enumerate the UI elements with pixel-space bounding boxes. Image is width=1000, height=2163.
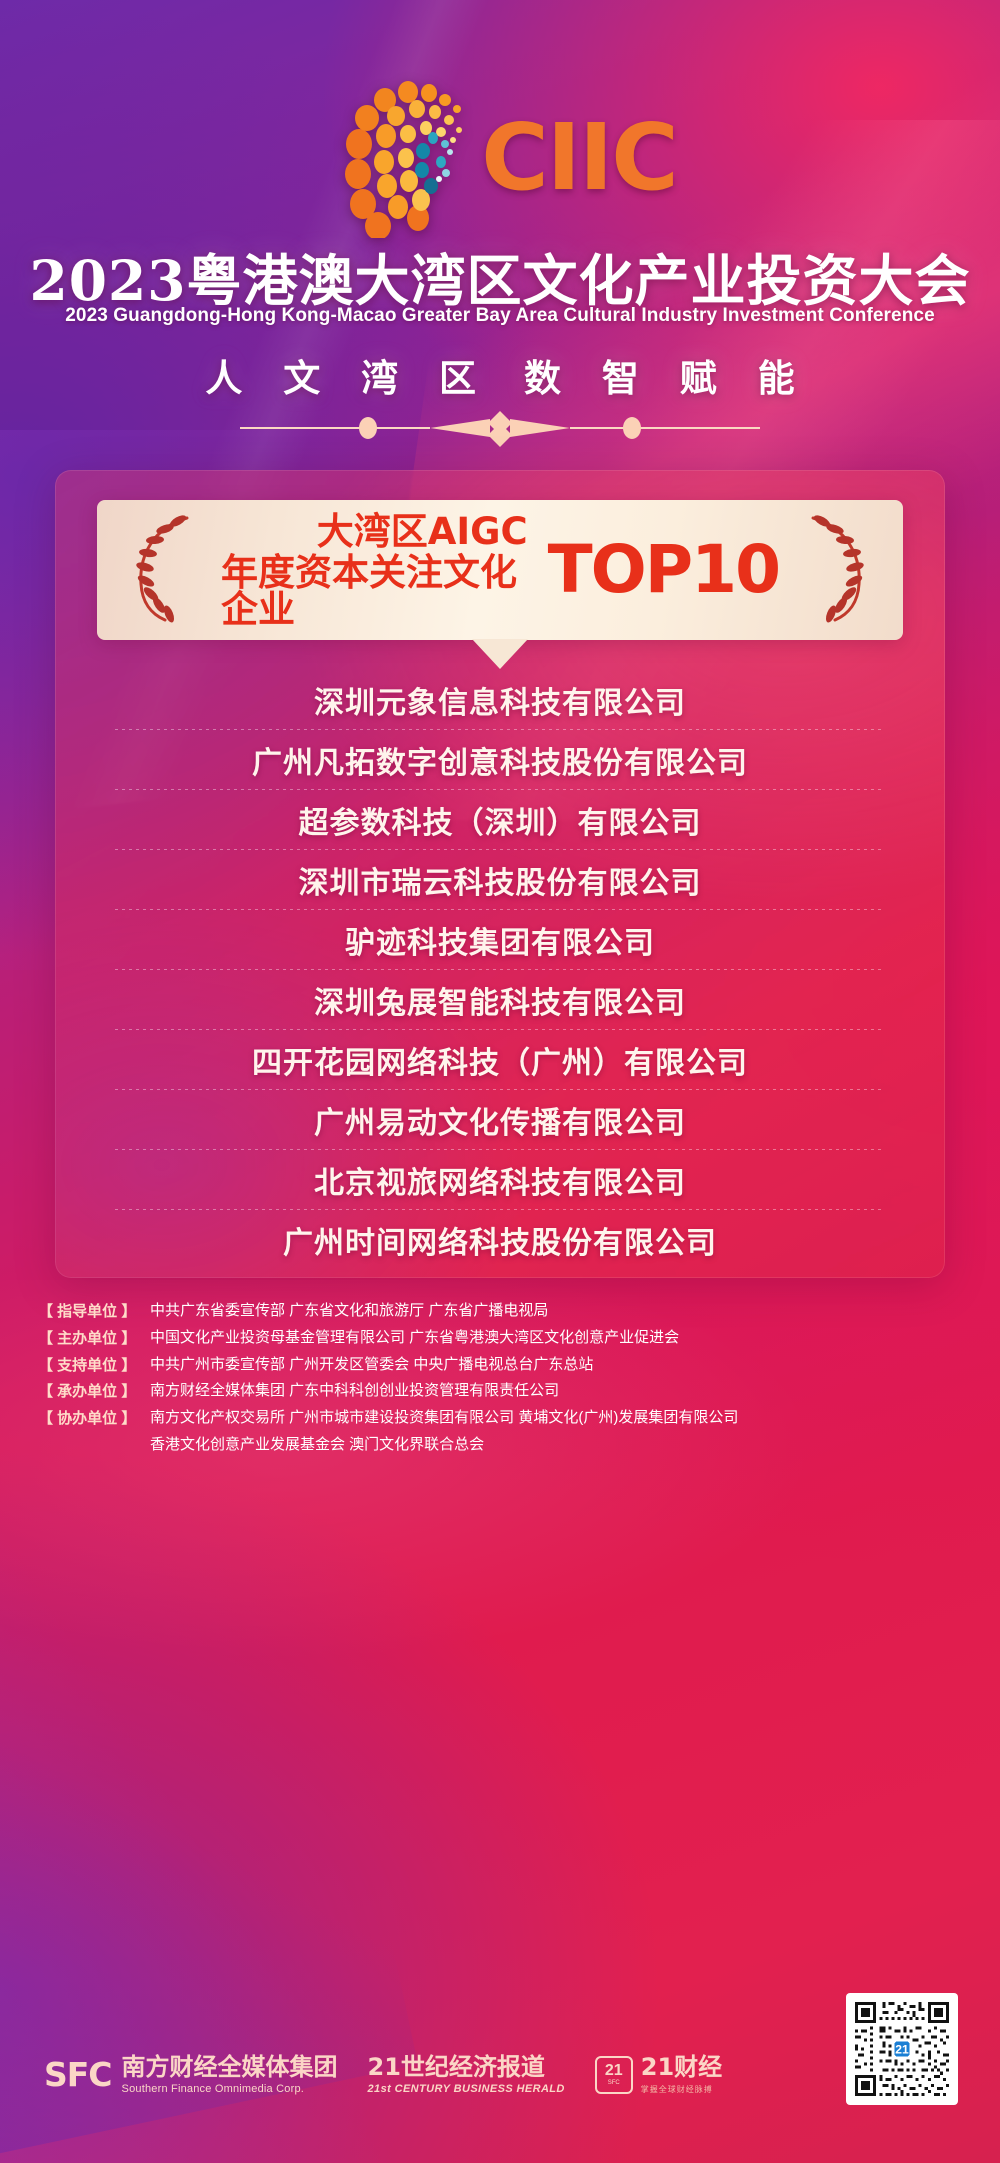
sponsor-row: 【 支持单位 】 中共广州市委宣传部 广州开发区管委会 中央广播电视总台广东总站 [38,1354,798,1376]
herald-name-en: 21st CENTURY BUSINESS HERALD [368,2083,565,2095]
top10-ribbon: 大湾区AIGC 年度资本关注文化企业 TOP10 [97,500,903,640]
list-item: 四开花园网络科技（广州）有限公司 [55,1030,945,1090]
top10-card: 大湾区AIGC 年度资本关注文化企业 TOP10 [55,470,945,1278]
sponsor-label: 【 指导单位 】 [38,1300,150,1321]
company-name: 广州易动文化传播有限公司 [314,1098,686,1142]
list-item: 深圳市瑞云科技股份有限公司 [55,850,945,910]
company-name: 超参数科技（深圳）有限公司 [299,798,702,842]
sponsor-value: 中共广东省委宣传部 广东省文化和旅游厅 广东省广播电视局 [150,1300,548,1322]
caijing-badge-sub: SFC [608,2080,620,2086]
sponsor-row: 【 指导单位 】 中共广东省委宣传部 广东省文化和旅游厅 广东省广播电视局 [38,1300,798,1322]
slogan: 人 文 湾 区数 智 赋 能 [0,348,1000,402]
footer-logos: SFC 南方财经全媒体集团 Southern Finance Omnimedia… [44,2055,722,2095]
herald-name-cn: 21世纪经济报道 [368,2055,565,2080]
page-title-cn: 2023粤港澳大湾区文化产业投资大会 [0,236,1000,316]
ribbon-line-2: 年度资本关注文化企业 [221,554,528,628]
list-item: 广州时间网络科技股份有限公司 [55,1210,945,1270]
sponsor-label: 【 协办单位 】 [38,1407,150,1428]
ribbon-line-1: 大湾区AIGC [317,513,528,550]
sfc-name-cn: 南方财经全媒体集团 [122,2055,338,2080]
company-name: 深圳元象信息科技有限公司 [314,678,686,722]
sponsor-value: 南方财经全媒体集团 广东中科科创创业投资管理有限责任公司 [150,1380,559,1402]
sponsor-label: 【 主办单位 】 [38,1327,150,1348]
ornamental-divider [240,405,760,451]
list-item: 深圳兔展智能科技有限公司 [55,970,945,1030]
ciic-dot-spiral-logo-icon [323,78,483,238]
svg-text:21: 21 [895,2043,909,2057]
list-item: 驴迹科技集团有限公司 [55,910,945,970]
laurel-right-icon [795,512,869,629]
company-name: 驴迹科技集团有限公司 [345,918,655,962]
sponsor-row: 【 协办单位 】 南方文化产权交易所 广州市城市建设投资集团有限公司 黄埔文化(… [38,1407,798,1429]
caijing-badge-icon: 21 SFC [595,2056,633,2094]
laurel-left-icon [131,512,205,629]
sfc-wordmark: SFC [44,2055,112,2094]
list-item: 深圳元象信息科技有限公司 [55,670,945,730]
top10-label: TOP10 [548,537,779,603]
ribbon-notch [472,639,528,669]
company-name: 深圳兔展智能科技有限公司 [314,978,686,1022]
caijing-badge-number: 21 [605,2063,623,2079]
company-name: 广州凡拓数字创意科技股份有限公司 [252,738,748,782]
sponsor-extra-line: 香港文化创意产业发展基金会 澳门文化界联合总会 [150,1434,798,1456]
sponsor-label: 【 承办单位 】 [38,1380,150,1401]
list-item: 超参数科技（深圳）有限公司 [55,790,945,850]
sfc-name-en: Southern Finance Omnimedia Corp. [122,2083,338,2095]
list-item: 广州易动文化传播有限公司 [55,1090,945,1150]
sponsor-value: 中国文化产业投资母基金管理有限公司 广东省粤港澳大湾区文化创意产业促进会 [150,1327,679,1349]
caijing-tagline: 掌握全球财经脉搏 [641,2084,722,2095]
slogan-part-2: 数 智 赋 能 [524,356,809,400]
company-name: 广州时间网络科技股份有限公司 [283,1218,717,1262]
sponsor-row: 【 承办单位 】 南方财经全媒体集团 广东中科科创创业投资管理有限责任公司 [38,1380,798,1402]
caijing-logo: 21 SFC 21财经 掌握全球财经脉搏 [595,2055,722,2094]
company-name: 四开花园网络科技（广州）有限公司 [252,1038,748,1082]
caijing-name-cn: 21财经 [641,2055,722,2080]
slogan-part-1: 人 文 湾 区 [205,356,490,400]
herald-logo: 21世纪经济报道 21st CENTURY BUSINESS HERALD [368,2055,565,2095]
brand-logo: CIIC [0,78,1000,238]
sponsor-label: 【 支持单位 】 [38,1354,150,1375]
sponsors-block: 【 指导单位 】 中共广东省委宣传部 广东省文化和旅游厅 广东省广播电视局 【 … [38,1300,798,1456]
ribbon-heading: 大湾区AIGC 年度资本关注文化企业 [221,513,528,628]
qr-code[interactable]: 21 [846,1993,958,2105]
poster-root: CIIC 2023粤港澳大湾区文化产业投资大会 2023 Guangdong-H… [0,0,1000,2163]
brand-wordmark: CIIC [481,112,677,204]
company-name: 深圳市瑞云科技股份有限公司 [299,858,702,902]
sponsor-value: 南方文化产权交易所 广州市城市建设投资集团有限公司 黄埔文化(广州)发展集团有限… [150,1407,738,1429]
company-list: 深圳元象信息科技有限公司 广州凡拓数字创意科技股份有限公司 超参数科技（深圳）有… [55,670,945,1270]
sfc-logo: SFC 南方财经全媒体集团 Southern Finance Omnimedia… [44,2055,338,2094]
list-item: 广州凡拓数字创意科技股份有限公司 [55,730,945,790]
page-title-en: 2023 Guangdong-Hong Kong-Macao Greater B… [0,305,1000,327]
list-item: 北京视旅网络科技有限公司 [55,1150,945,1210]
company-name: 北京视旅网络科技有限公司 [314,1158,686,1202]
sponsor-row: 【 主办单位 】 中国文化产业投资母基金管理有限公司 广东省粤港澳大湾区文化创意… [38,1327,798,1349]
sponsor-value: 中共广州市委宣传部 广州开发区管委会 中央广播电视总台广东总站 [150,1354,593,1376]
